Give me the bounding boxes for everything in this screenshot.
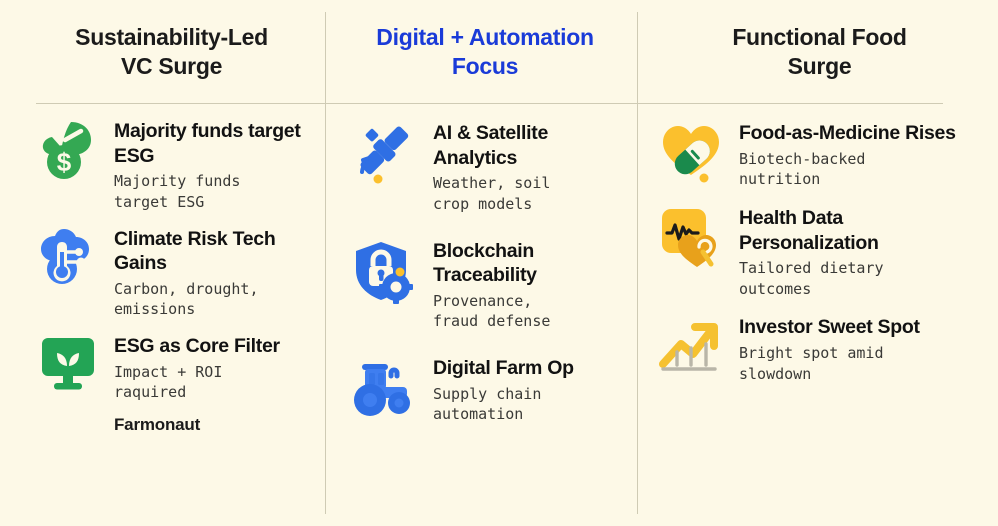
item-text: Climate Risk Tech Gains Carbon, drought,… bbox=[114, 225, 307, 321]
item-subtitle: Biotech-backed nutrition bbox=[739, 149, 956, 190]
item-subtitle: Supply chain automation bbox=[433, 384, 574, 425]
items-list-digital-automation: AI & Satellite Analytics Weather, soil c… bbox=[349, 103, 621, 425]
item-subtitle: Provenance, fraud defense bbox=[433, 291, 621, 332]
item-subtitle: Impact + ROI raquired bbox=[114, 362, 280, 403]
heading-line-2: VC Surge bbox=[121, 53, 222, 79]
item-title: ESG as Core Filter bbox=[114, 334, 280, 359]
item-title: Health Data Personalization bbox=[739, 206, 982, 255]
column-sustainability: Sustainability-Led VC Surge $ bbox=[0, 0, 325, 526]
cloud-thermometer-icon bbox=[36, 225, 100, 289]
column-heading-functional-food: Functional Food Surge bbox=[657, 0, 982, 103]
item-text: AI & Satellite Analytics Weather, soil c… bbox=[433, 119, 621, 215]
infographic-board: Sustainability-Led VC Surge $ bbox=[0, 0, 998, 526]
item-title: Climate Risk Tech Gains bbox=[114, 227, 307, 276]
item-subtitle: Weather, soil crop models bbox=[433, 173, 621, 214]
item-text: ESG as Core Filter Impact + ROI raquired… bbox=[114, 332, 280, 435]
item-title: Investor Sweet Spot bbox=[739, 315, 920, 340]
items-list-functional-food: Food-as-Medicine Rises Biotech-backed nu… bbox=[657, 103, 982, 384]
heading-line-1: Functional Food bbox=[732, 24, 906, 50]
list-item: Climate Risk Tech Gains Carbon, drought,… bbox=[36, 225, 307, 321]
column-heading-sustainability: Sustainability-Led VC Surge bbox=[36, 0, 307, 103]
tractor-icon bbox=[349, 354, 419, 424]
brand-label: Farmonaut bbox=[114, 415, 280, 435]
item-title: Digital Farm Op bbox=[433, 356, 574, 381]
item-text: Health Data Personalization Tailored die… bbox=[739, 204, 982, 300]
item-text: Blockchain Traceability Provenance, frau… bbox=[433, 237, 621, 333]
column-functional-food: Functional Food Surge bbox=[637, 0, 998, 526]
money-plant-icon: $ bbox=[36, 117, 100, 181]
item-title: Blockchain Traceability bbox=[433, 239, 621, 288]
items-list-sustainability: $ Majority funds target ESG Majority fun… bbox=[36, 103, 307, 435]
list-item: Digital Farm Op Supply chain automation bbox=[349, 354, 621, 425]
column-heading-digital-automation: Digital + Automation Focus bbox=[349, 0, 621, 103]
svg-text:$: $ bbox=[57, 147, 72, 177]
heading-line-1: Sustainability-Led bbox=[75, 24, 268, 50]
item-title: AI & Satellite Analytics bbox=[433, 121, 621, 170]
column-digital-automation: Digital + Automation Focus bbox=[325, 0, 637, 526]
item-text: Digital Farm Op Supply chain automation bbox=[433, 354, 574, 425]
item-subtitle: Majority funds target ESG bbox=[114, 171, 307, 212]
heading-line-2: Focus bbox=[452, 53, 518, 79]
monitor-leaf-icon bbox=[36, 332, 100, 396]
item-text: Majority funds target ESG Majority funds… bbox=[114, 117, 307, 213]
shield-lock-gear-icon bbox=[349, 237, 419, 307]
heading-line-2: Surge bbox=[788, 53, 852, 79]
growth-arrow-chart-icon bbox=[657, 313, 725, 381]
list-item: ESG as Core Filter Impact + ROI raquired… bbox=[36, 332, 307, 435]
item-text: Food-as-Medicine Rises Biotech-backed nu… bbox=[739, 119, 956, 190]
columns-container: Sustainability-Led VC Surge $ bbox=[0, 0, 998, 526]
item-subtitle: Tailored dietary outcomes bbox=[739, 258, 982, 299]
heart-pill-icon bbox=[657, 119, 725, 187]
list-item: $ Majority funds target ESG Majority fun… bbox=[36, 117, 307, 213]
satellite-icon bbox=[349, 119, 419, 189]
item-title: Food-as-Medicine Rises bbox=[739, 121, 956, 146]
ecg-heart-magnifier-icon bbox=[657, 204, 725, 272]
heading-line-1: Digital + Automation bbox=[376, 24, 593, 50]
item-subtitle: Bright spot amid slowdown bbox=[739, 343, 920, 384]
list-item: AI & Satellite Analytics Weather, soil c… bbox=[349, 119, 621, 215]
list-item: Blockchain Traceability Provenance, frau… bbox=[349, 237, 621, 333]
list-item: Food-as-Medicine Rises Biotech-backed nu… bbox=[657, 119, 982, 190]
item-text: Investor Sweet Spot Bright spot amid slo… bbox=[739, 313, 920, 384]
item-title: Majority funds target ESG bbox=[114, 119, 307, 168]
item-subtitle: Carbon, drought, emissions bbox=[114, 279, 307, 320]
list-item: Health Data Personalization Tailored die… bbox=[657, 204, 982, 300]
list-item: Investor Sweet Spot Bright spot amid slo… bbox=[657, 313, 982, 384]
